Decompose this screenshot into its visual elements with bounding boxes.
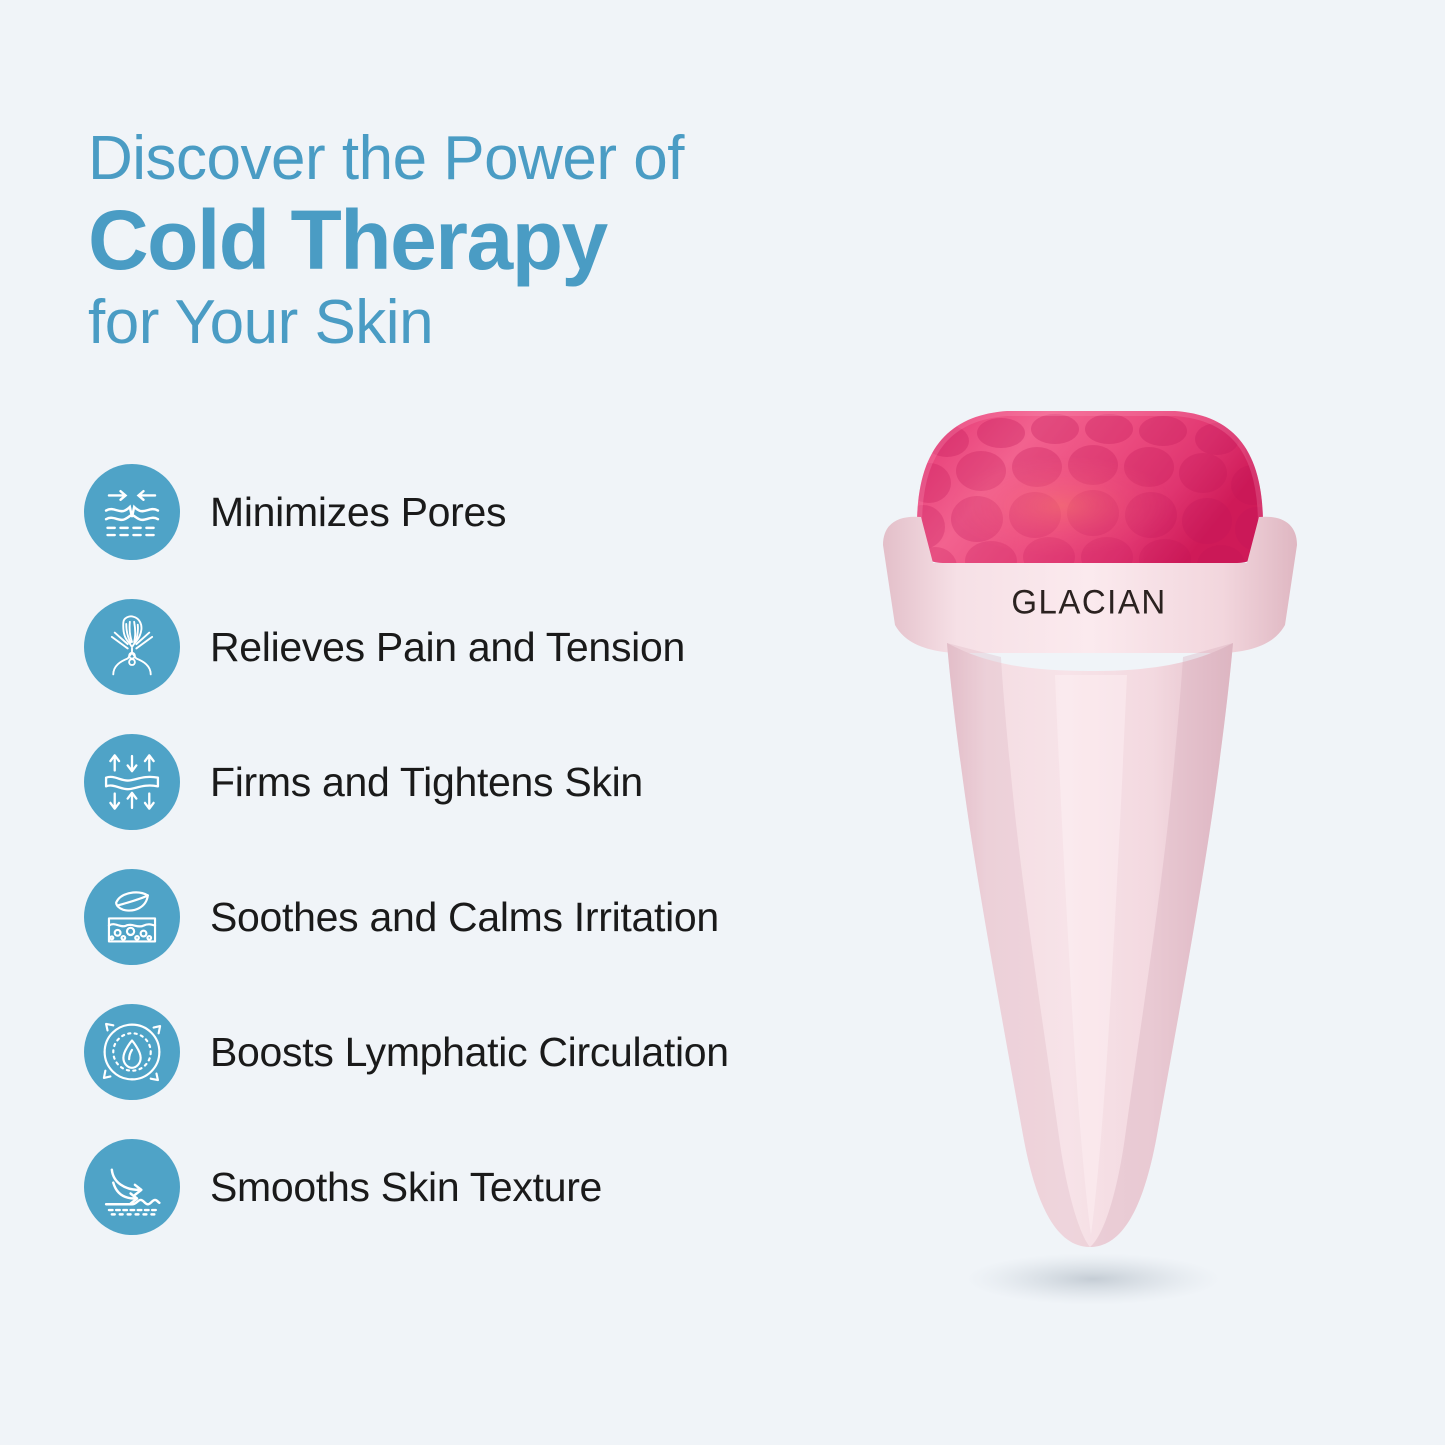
list-item: Soothes and Calms Irritation (84, 867, 904, 967)
lymphatic-circulation-icon (84, 1004, 180, 1100)
leaf-soothing-icon (84, 869, 180, 965)
list-item: Firms and Tightens Skin (84, 732, 904, 832)
feature-label: Smooths Skin Texture (210, 1164, 602, 1211)
headline-line-1: Discover the Power of (88, 128, 868, 190)
roller-head (901, 409, 1281, 587)
feature-label: Minimizes Pores (210, 489, 506, 536)
brand-logo-glacian: GLACIAN (979, 582, 1199, 622)
smooth-texture-icon (84, 1139, 180, 1235)
pore-minimize-icon (84, 464, 180, 560)
list-item: Relieves Pain and Tension (84, 597, 904, 697)
firming-arrows-icon (84, 734, 180, 830)
list-item: Boosts Lymphatic Circulation (84, 1002, 904, 1102)
page-title: Discover the Power of Cold Therapy for Y… (88, 128, 868, 354)
feature-list: Minimizes Pores Relieves Pain (84, 462, 904, 1237)
pain-tension-head-icon (84, 599, 180, 695)
headline-line-2: Cold Therapy (88, 198, 868, 282)
feature-label: Relieves Pain and Tension (210, 624, 685, 671)
product-infographic-canvas: Discover the Power of Cold Therapy for Y… (0, 0, 1445, 1445)
headline-line-3: for Your Skin (88, 292, 868, 354)
product-image-ice-roller: GLACIAN (855, 395, 1325, 1335)
list-item: Smooths Skin Texture (84, 1137, 904, 1237)
feature-label: Firms and Tightens Skin (210, 759, 643, 806)
feature-label: Boosts Lymphatic Circulation (210, 1029, 729, 1076)
list-item: Minimizes Pores (84, 462, 904, 562)
feature-label: Soothes and Calms Irritation (210, 894, 719, 941)
